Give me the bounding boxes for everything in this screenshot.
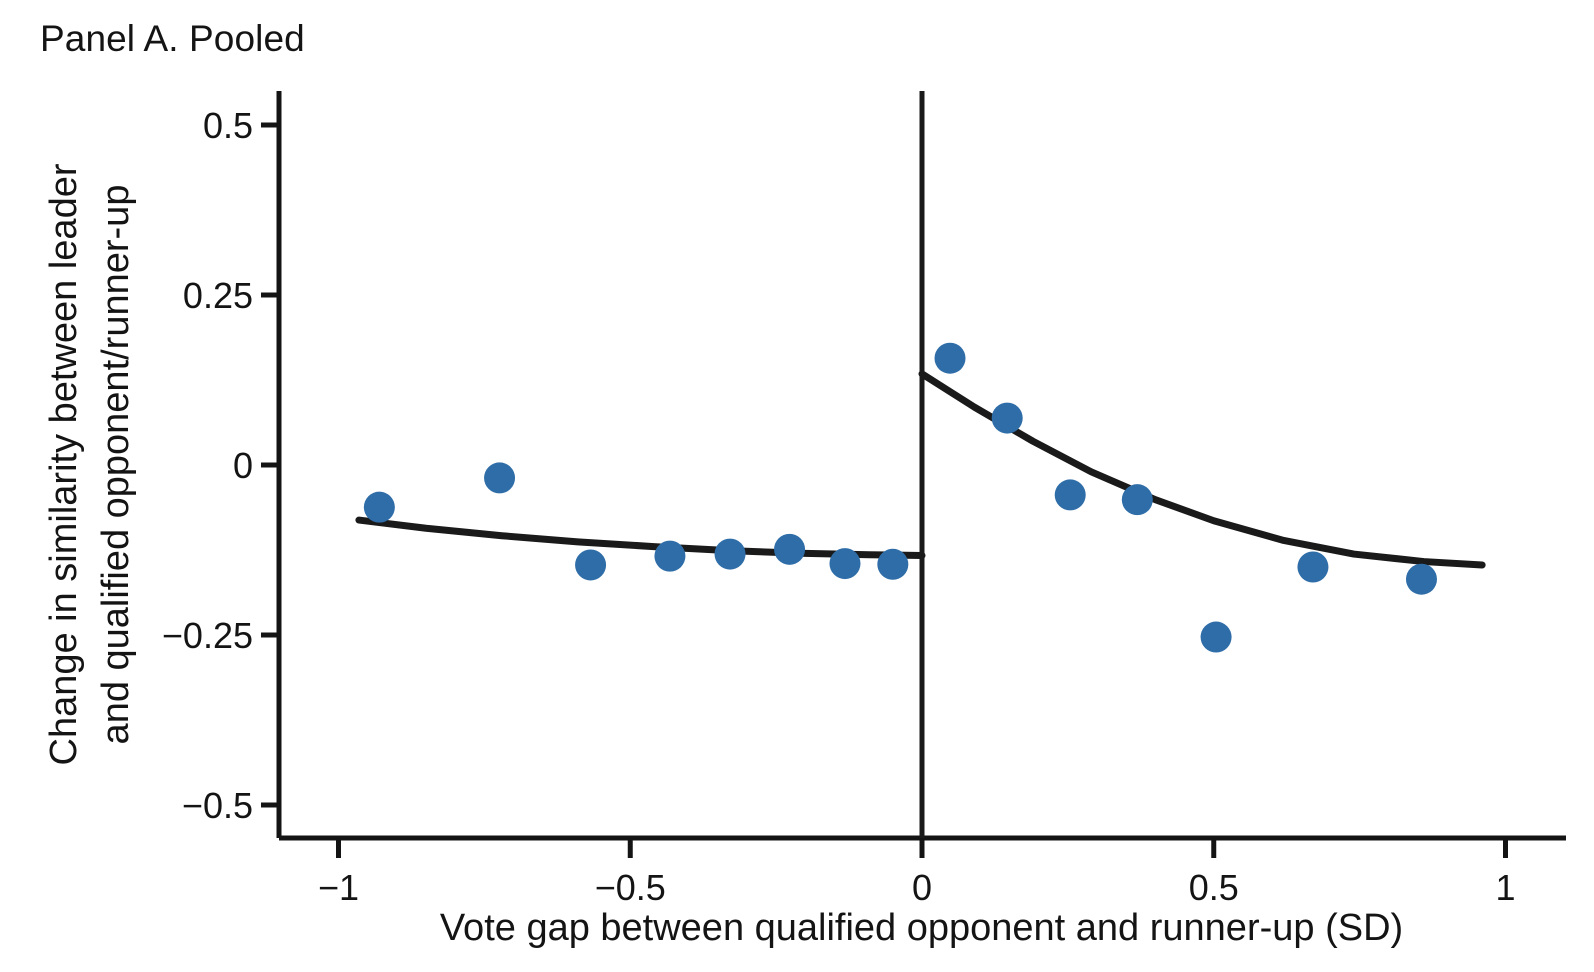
y-axis-title-line-2: and qualified opponent/runner-up bbox=[95, 185, 137, 745]
data-point-marker bbox=[1297, 552, 1328, 583]
x-axis-tick-label: −0.5 bbox=[595, 867, 666, 908]
data-point-marker bbox=[774, 534, 805, 565]
data-point-marker bbox=[935, 343, 966, 374]
data-point-marker bbox=[992, 403, 1023, 434]
data-point-marker bbox=[829, 548, 860, 579]
y-axis-tick-label: −0.5 bbox=[182, 785, 253, 826]
data-point-marker bbox=[1055, 479, 1086, 510]
data-point-marker bbox=[364, 492, 395, 523]
fit-line-right bbox=[922, 374, 1482, 565]
x-axis-tick-label: 1 bbox=[1495, 867, 1515, 908]
scatter-plot-canvas: 0.50.250−0.25−0.5−1−0.500.51 Vote gap be… bbox=[0, 0, 1594, 972]
data-point-marker bbox=[654, 541, 685, 572]
x-axis-tick-label: 0.5 bbox=[1189, 867, 1239, 908]
data-point-marker bbox=[484, 462, 515, 493]
chart-figure: Panel A. Pooled 0.50.250−0.25−0.5−1−0.50… bbox=[0, 0, 1594, 972]
y-axis-tick-label: 0 bbox=[233, 445, 253, 486]
y-axis-title-line-1: Change in similarity between leader bbox=[43, 163, 85, 765]
x-axis-title: Vote gap between qualified opponent and … bbox=[440, 907, 1403, 949]
x-axis-tick-label: 0 bbox=[912, 867, 932, 908]
data-point-marker bbox=[1201, 622, 1232, 653]
data-point-marker bbox=[1406, 564, 1437, 595]
data-points-group bbox=[364, 343, 1437, 653]
y-axis-tick-label: 0.25 bbox=[183, 275, 253, 316]
y-axis-tick-label: 0.5 bbox=[203, 105, 253, 146]
x-axis-tick-label: −1 bbox=[318, 867, 359, 908]
axes-group bbox=[261, 91, 1566, 858]
data-point-marker bbox=[877, 549, 908, 580]
data-point-marker bbox=[715, 539, 746, 570]
data-point-marker bbox=[1122, 484, 1153, 515]
data-point-marker bbox=[575, 549, 606, 580]
y-axis-tick-label: −0.25 bbox=[162, 615, 253, 656]
